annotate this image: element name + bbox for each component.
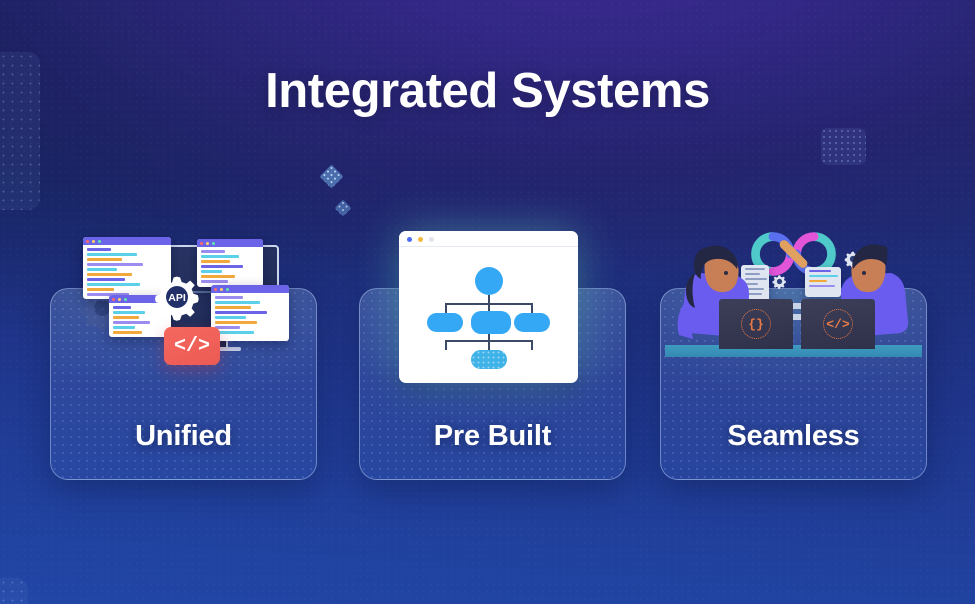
- decor-diamond-small: [335, 200, 352, 217]
- background-gear-icon: [79, 285, 125, 331]
- diagram-connector: [531, 303, 533, 313]
- code-window-titlebar: [211, 285, 289, 293]
- code-window-body: [197, 247, 263, 287]
- diagram-connector: [445, 340, 532, 342]
- code-window-titlebar: [197, 239, 263, 247]
- diagram-connector: [531, 340, 533, 350]
- laptop-left: {}: [719, 299, 793, 349]
- code-window: [197, 239, 263, 287]
- code-window-titlebar: [109, 295, 171, 303]
- card-label-pre-built: Pre Built: [360, 420, 625, 453]
- code-window: [211, 285, 289, 341]
- browser-titlebar: [399, 231, 578, 247]
- braces-icon: {}: [741, 309, 771, 339]
- diagram-node-leaf: [514, 350, 550, 369]
- person-left-graphic: [669, 243, 761, 359]
- gear-icon: [771, 273, 788, 295]
- card-label-seamless: Seamless: [661, 420, 926, 453]
- card-label-unified: Unified: [51, 420, 316, 453]
- code-window-body: [211, 293, 289, 339]
- monitor-graphic: [143, 245, 279, 337]
- card-pre-built[interactable]: Pre Built: [359, 288, 626, 480]
- code-window: [83, 237, 171, 299]
- decor-top-right-square: [821, 128, 866, 165]
- diagram-node-mid: [514, 313, 550, 332]
- diagram-node-mid: [471, 311, 511, 334]
- code-window-body: [109, 303, 171, 337]
- monitor-stand: [198, 335, 228, 348]
- floating-bar: [769, 303, 809, 309]
- decor-bottom-left-rectangle: [0, 578, 28, 604]
- diagram-connector: [445, 340, 447, 350]
- monitor-divider: [153, 291, 269, 293]
- document-card: [741, 265, 769, 307]
- diagram-connector: [488, 295, 490, 313]
- diagram-node-leaf: [471, 350, 507, 369]
- code-window-body: [83, 245, 171, 299]
- code-badge-icon: </>: [164, 327, 220, 365]
- infographic-canvas: Integrated Systems: [0, 0, 975, 604]
- gear-icon: [843, 249, 863, 274]
- person-right-graphic: [829, 243, 921, 359]
- code-window-titlebar: [83, 237, 171, 245]
- desk-surface: [665, 345, 922, 357]
- hierarchy-diagram: [399, 247, 578, 383]
- code-tag-icon: </>: [823, 309, 853, 339]
- diagram-node-leaf: [427, 350, 463, 369]
- browser-window-graphic: [399, 231, 578, 383]
- api-gear-icon: API: [151, 271, 203, 323]
- svg-text:API: API: [168, 292, 186, 304]
- code-window: [109, 295, 171, 337]
- illustration-unified: API </>: [51, 233, 316, 393]
- page-title: Integrated Systems: [0, 63, 975, 119]
- infinity-loop-icon: [746, 227, 841, 281]
- illustration-seamless: {} </>: [661, 227, 926, 397]
- floating-bar: [775, 314, 807, 320]
- card-unified[interactable]: API </> Unified: [50, 288, 317, 480]
- diagram-node-mid: [427, 313, 463, 332]
- card-seamless[interactable]: {} </> Seamless: [660, 288, 927, 480]
- laptop-right: </>: [801, 299, 875, 349]
- diagram-connector: [488, 332, 490, 350]
- monitor-base: [181, 347, 241, 351]
- decor-diamond-large: [319, 164, 343, 188]
- diagram-node-root: [475, 267, 503, 295]
- diagram-connector: [445, 303, 532, 305]
- document-card: [805, 267, 841, 297]
- diagram-connector: [445, 303, 447, 313]
- illustration-pre-built: [360, 229, 625, 389]
